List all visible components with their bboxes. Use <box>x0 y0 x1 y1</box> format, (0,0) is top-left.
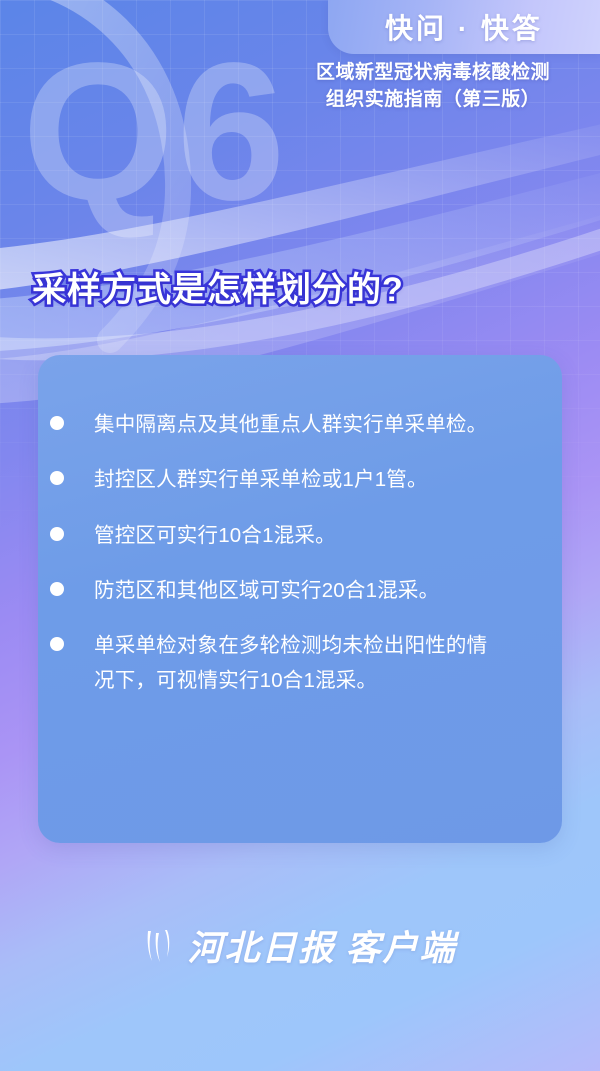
answer-bullet-item: 集中隔离点及其他重点人群实行单采单检。 <box>38 407 562 442</box>
answer-bullet-item: 防范区和其他区域可实行20合1混采。 <box>38 573 562 608</box>
question-heading: 采样方式是怎样划分的? <box>32 262 404 311</box>
answer-bullet-line: 况下，可视情实行10合1混采。 <box>94 663 487 698</box>
document-subtitle-line1: 区域新型冠状病毒核酸检测 <box>288 60 578 87</box>
answer-bullet-text: 管控区可实行10合1混采。 <box>94 518 352 553</box>
document-subtitle: 区域新型冠状病毒核酸检测 组织实施指南（第三版） <box>288 60 578 114</box>
bullet-dot-icon <box>50 582 64 596</box>
answer-bullet-line: 管控区可实行10合1混采。 <box>94 518 336 553</box>
answer-bullet-text: 单采单检对象在多轮检测均未检出阳性的情况下，可视情实行10合1混采。 <box>94 628 503 699</box>
answer-bullet-text: 封控区人群实行单采单检或1户1管。 <box>94 462 444 497</box>
answer-bullet-text: 防范区和其他区域可实行20合1混采。 <box>94 573 455 608</box>
answer-bullet-text: 集中隔离点及其他重点人群实行单采单检。 <box>94 407 503 442</box>
answer-bullet-list: 集中隔离点及其他重点人群实行单采单检。封控区人群实行单采单检或1户1管。管控区可… <box>38 407 562 719</box>
bullet-dot-icon <box>50 637 64 651</box>
answer-bullet-item: 封控区人群实行单采单检或1户1管。 <box>38 462 562 497</box>
answer-bullet-line: 防范区和其他区域可实行20合1混采。 <box>94 573 439 608</box>
answer-bullet-line: 封控区人群实行单采单检或1户1管。 <box>94 462 428 497</box>
footer-publisher: 河北日报 <box>187 929 335 968</box>
question-number-watermark: Q6 <box>22 34 287 230</box>
bullet-dot-icon <box>50 416 64 430</box>
bullet-dot-icon <box>50 471 64 485</box>
poster-canvas: Q6 快问 · 快答 区域新型冠状病毒核酸检测 组织实施指南（第三版） 采样方式… <box>0 0 600 1071</box>
answer-bullet-item: 管控区可实行10合1混采。 <box>38 518 562 553</box>
answer-bullet-line: 集中隔离点及其他重点人群实行单采单检。 <box>94 407 487 442</box>
document-subtitle-line2: 组织实施指南（第三版） <box>288 87 578 114</box>
footer-branding: 河北日报客户端 <box>0 920 600 971</box>
answer-bullet-item: 单采单检对象在多轮检测均未检出阳性的情况下，可视情实行10合1混采。 <box>38 628 562 699</box>
hebei-daily-logo-icon <box>143 927 177 965</box>
footer-publisher-name: 河北日报客户端 <box>187 920 456 971</box>
answer-bullet-line: 单采单检对象在多轮检测均未检出阳性的情 <box>94 628 487 663</box>
quick-qa-badge-label: 快问 · 快答 <box>385 7 543 47</box>
bullet-dot-icon <box>50 527 64 541</box>
answer-card: 集中隔离点及其他重点人群实行单采单检。封控区人群实行单采单检或1户1管。管控区可… <box>38 355 562 843</box>
footer-product: 客户端 <box>346 929 457 968</box>
quick-qa-badge: 快问 · 快答 <box>328 0 600 54</box>
